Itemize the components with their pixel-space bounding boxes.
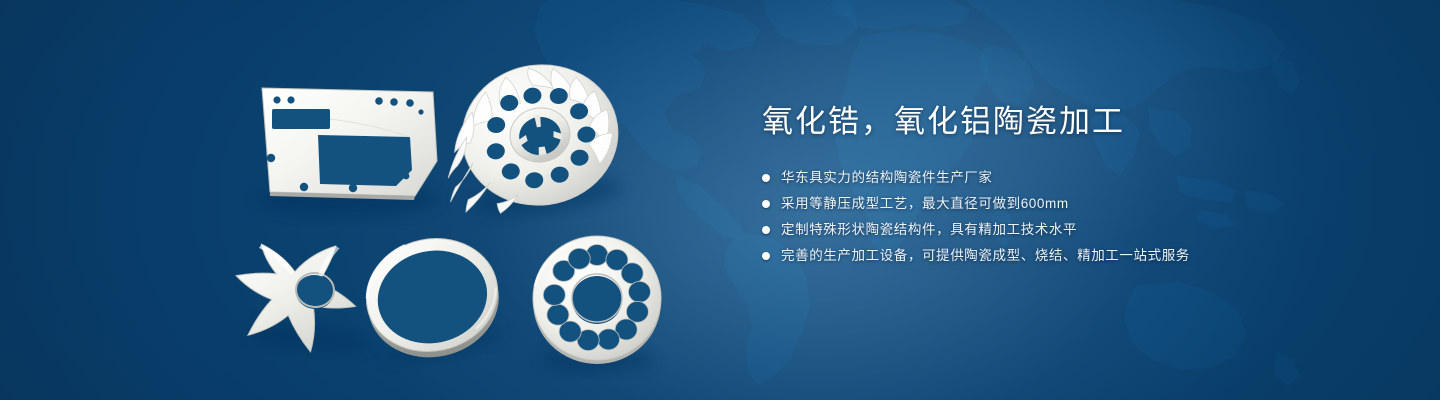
ceramic-ring: [356, 227, 510, 370]
bullet-marker-icon: [762, 174, 770, 182]
list-item: 采用等静压成型工艺，最大直径可做到600mm: [762, 195, 1362, 213]
ceramic-plate-rectangular: [256, 88, 440, 216]
banner-copy-block: 氧化锆，氧化铝陶瓷加工 华东具实力的结构陶瓷件生产厂家 采用等静压成型工艺，最大…: [762, 104, 1362, 266]
ceramic-products-group: [0, 0, 720, 400]
ceramic-cross-part: [229, 236, 382, 358]
page-title: 氧化锆，氧化铝陶瓷加工: [762, 104, 1362, 140]
ceramic-processing-banner: 氧化锆，氧化铝陶瓷加工 华东具实力的结构陶瓷件生产厂家 采用等静压成型工艺，最大…: [0, 0, 1440, 400]
bullet-marker-icon: [762, 252, 770, 260]
list-item-label: 定制特殊形状陶瓷结构件，具有精加工技术水平: [781, 221, 1077, 239]
ceramic-perforated-disc: [533, 236, 661, 372]
list-item-label: 采用等静压成型工艺，最大直径可做到600mm: [781, 195, 1069, 213]
list-item: 华东具实力的结构陶瓷件生产厂家: [762, 169, 1362, 187]
bullet-marker-icon: [762, 226, 770, 234]
list-item-label: 完善的生产加工设备，可提供陶瓷成型、烧结、精加工一站式服务: [781, 247, 1190, 265]
list-item-label: 华东具实力的结构陶瓷件生产厂家: [781, 169, 993, 187]
feature-bullet-list: 华东具实力的结构陶瓷件生产厂家 采用等静压成型工艺，最大直径可做到600mm 定…: [762, 169, 1362, 266]
list-item: 完善的生产加工设备，可提供陶瓷成型、烧结、精加工一站式服务: [762, 247, 1362, 265]
ceramic-impeller-vaned: [433, 55, 628, 226]
list-item: 定制特殊形状陶瓷结构件，具有精加工技术水平: [762, 221, 1362, 239]
bullet-marker-icon: [762, 200, 770, 208]
